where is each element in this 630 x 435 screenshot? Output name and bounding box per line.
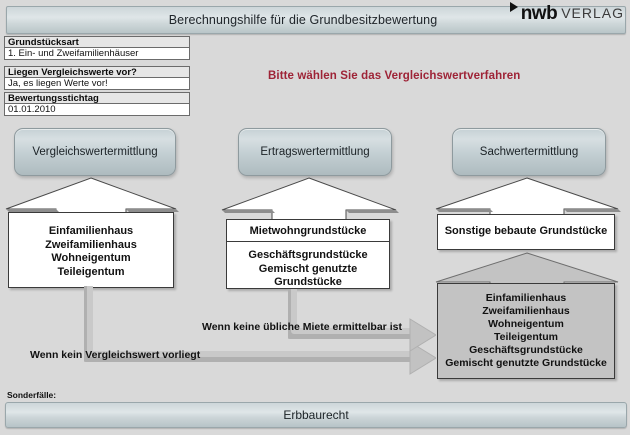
logo-nwb-text: nwb	[521, 4, 558, 23]
up-arrow-right-lower	[432, 252, 622, 286]
box-middle-header: Mietwohngrundstücke	[227, 220, 389, 242]
erbbaurecht-button[interactable]: Erbbaurecht	[5, 402, 627, 428]
app-root: Berechnungshilfe für die Grundbesitzbewe…	[0, 0, 630, 435]
sonderfaelle-label: Sonderfälle:	[7, 390, 56, 400]
method-sachwertermittlung[interactable]: Sachwertermittlung	[452, 128, 606, 176]
list-item: Geschäftsgrundstücke	[438, 344, 614, 357]
selection-hint: Bitte wählen Sie das Vergleichswertverfa…	[268, 70, 520, 82]
method-label: Vergleichswertermittlung	[32, 146, 157, 158]
list-item: Wohneigentum	[438, 318, 614, 331]
list-item: Gemischt genutzte	[227, 263, 389, 277]
connector-label-vergleichswert: Wenn kein Vergleichswert vorliegt	[30, 349, 200, 361]
field-grundstuecksart[interactable]: Grundstücksart 1. Ein- und Zweifamilienh…	[4, 36, 190, 60]
list-item: Wohneigentum	[9, 252, 173, 266]
up-arrow-middle	[218, 176, 400, 222]
brand-logo: nwb VERLAG	[512, 1, 624, 25]
up-arrow-left	[2, 176, 180, 216]
up-arrow-right	[432, 176, 622, 216]
logo-verlag-text: VERLAG	[561, 6, 624, 20]
field-label: Liegen Vergleichswerte vor?	[4, 66, 190, 78]
list-item: Einfamilienhaus	[438, 292, 614, 305]
field-value[interactable]: Ja, es liegen Werte vor!	[4, 78, 190, 90]
list-item: Zweifamilienhaus	[438, 305, 614, 318]
method-vergleichswertermittlung[interactable]: Vergleichswertermittlung	[14, 128, 176, 176]
method-ertragswertermittlung[interactable]: Ertragswertermittlung	[238, 128, 392, 176]
field-label: Bewertungsstichtag	[4, 92, 190, 104]
box-middle-types: Mietwohngrundstücke Geschäftsgrundstücke…	[226, 219, 390, 289]
field-value[interactable]: 1. Ein- und Zweifamilienhäuser	[4, 48, 190, 60]
list-item: Geschäftsgrundstücke	[227, 249, 389, 263]
box-right-sonstige: Sonstige bebaute Grundstücke	[437, 214, 615, 250]
list-item: Zweifamilienhaus	[9, 239, 173, 253]
box-middle-body: Geschäftsgrundstücke Gemischt genutzte G…	[227, 242, 389, 290]
method-label: Sachwertermittlung	[480, 146, 578, 158]
box-right-header: Sonstige bebaute Grundstücke	[445, 225, 608, 239]
connector-label-miete: Wenn keine übliche Miete ermittelbar ist	[202, 321, 402, 333]
list-item: Gemischt genutzte Grundstücke	[438, 357, 614, 370]
triangle-icon	[510, 2, 518, 12]
field-bewertungsstichtag[interactable]: Bewertungsstichtag 01.01.2010	[4, 92, 190, 116]
method-label: Ertragswertermittlung	[260, 146, 369, 158]
list-item: Teileigentum	[9, 266, 173, 280]
field-value[interactable]: 01.01.2010	[4, 104, 190, 116]
list-item: Einfamilienhaus	[9, 225, 173, 239]
field-vergleichswerte[interactable]: Liegen Vergleichswerte vor? Ja, es liege…	[4, 66, 190, 90]
list-item: Teileigentum	[438, 331, 614, 344]
field-label: Grundstücksart	[4, 36, 190, 48]
box-left-types: Einfamilienhaus Zweifamilienhaus Wohneig…	[8, 212, 174, 288]
erbbaurecht-label: Erbbaurecht	[283, 408, 348, 422]
box-right-gray-types: Einfamilienhaus Zweifamilienhaus Wohneig…	[437, 283, 615, 379]
